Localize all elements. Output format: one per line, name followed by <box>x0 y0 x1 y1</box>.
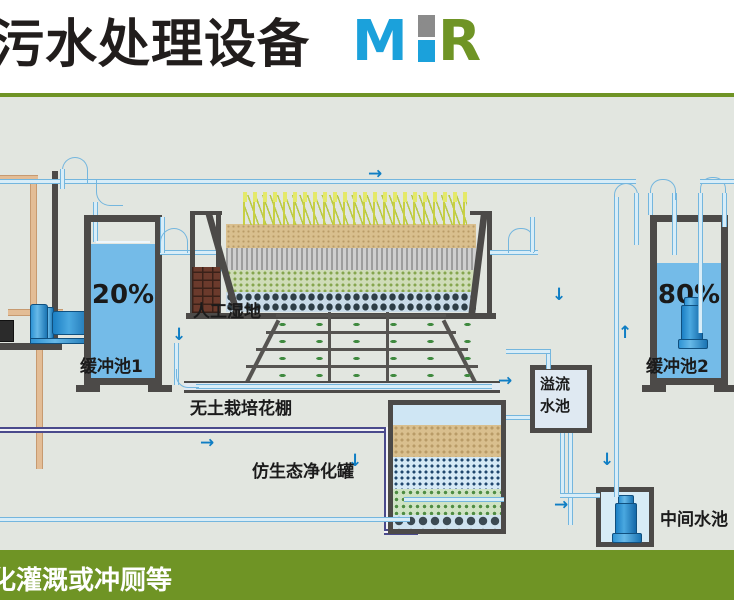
bend-buffer2-a <box>650 179 676 200</box>
arrow-to-intermediate: → <box>554 497 568 514</box>
wetland-right-outer-wall <box>487 211 492 317</box>
overflow-pool-label-line1: 溢流 <box>540 373 570 394</box>
arrow-greenhouse-right: → <box>498 373 512 390</box>
arrow-mid-right: → <box>200 435 214 452</box>
arrow-return-up: ↑ <box>618 325 632 342</box>
logo-letter-m: M <box>352 14 408 70</box>
header-bar: 污水处理设备 M R <box>0 0 734 95</box>
buffer2-top-feed <box>700 179 734 184</box>
overflow-to-intermediate <box>560 433 565 495</box>
greenhouse-plants <box>250 312 476 382</box>
intermediate-pool-label: 中间水池 <box>660 505 728 530</box>
wetland-layer-green-media <box>226 270 476 292</box>
wetland-layer-cobble <box>226 292 476 312</box>
buffer2-riser-c <box>698 193 703 333</box>
pump-b2-base <box>678 339 708 349</box>
bend-into-buffer1 <box>96 179 123 206</box>
greenhouse-inner-pipe <box>196 384 492 389</box>
wetland-right-top <box>470 211 492 215</box>
buffer-tank-1-foot-right <box>148 385 172 392</box>
bend-greenhouse-feed <box>176 369 199 388</box>
buffer2-riser-a <box>672 193 677 255</box>
lower-left-return-pipe <box>0 517 410 522</box>
pump-control-box <box>0 320 14 342</box>
buffer2-riser-b <box>648 193 653 215</box>
arrow-intermediate-down: ↓ <box>600 452 614 469</box>
buffer2-riser-d <box>722 193 727 227</box>
wastewater-treatment-diagram: 污水处理设备 M R → <box>0 0 734 600</box>
wetland-layer-sand <box>226 224 476 248</box>
buffer-tank-2-label: 缓冲池2 <box>646 352 709 377</box>
pumphouse-floor <box>0 343 62 350</box>
purifier-layer-water <box>393 405 501 425</box>
overflow-pool-top-feed <box>506 349 550 354</box>
purifier-layer-blue-media <box>393 457 501 489</box>
right-return-pipe-1 <box>614 197 619 497</box>
purifier-bottom-return <box>404 497 504 502</box>
pump-intermediate-body <box>615 503 637 535</box>
recycle-pipe-horizontal <box>0 427 390 433</box>
greenhouse-label: 无土栽培花棚 <box>190 394 292 419</box>
purifier-layer-green-media <box>393 489 501 515</box>
buffer-tank-1-percent: 20% <box>91 280 155 310</box>
water-drop-gray-icon <box>418 15 435 37</box>
arrow-top-main: → <box>368 166 382 183</box>
arrow-right-down: ↓ <box>552 287 566 304</box>
buffer-tank-1-foot-left <box>76 385 100 392</box>
overflow-pool-label-line2: 水池 <box>540 395 570 416</box>
page-title: 污水处理设备 <box>0 2 310 77</box>
logo-letter-r: R <box>438 14 481 70</box>
mbr-logo: M R <box>352 12 482 70</box>
curl-left-of-buffer1-leg <box>60 169 65 189</box>
wetland-bed <box>226 224 476 314</box>
overflow-to-intermediate-leg <box>560 493 600 498</box>
arrow-wetland-down: ↓ <box>172 327 186 344</box>
buffer-tank-1-label: 缓冲池1 <box>80 352 143 377</box>
curl-left-of-buffer1 <box>62 157 88 184</box>
bio-purification-tank-label: 仿生态净化罐 <box>252 457 354 482</box>
pump-base-plate <box>30 338 92 344</box>
buffer1-level-line <box>96 241 150 243</box>
footer-text: 化灌溉或冲厕等 <box>0 560 172 597</box>
wetland-layer-gravel <box>226 248 476 270</box>
wetland-plant-row-caps <box>243 192 467 202</box>
pump-volute <box>30 304 48 342</box>
buffer-tank-2-foot-left <box>642 385 666 392</box>
buffer-tank-2-foot-right <box>714 385 734 392</box>
right-return-pipe-2 <box>634 193 639 245</box>
water-drop-blue-icon <box>418 40 435 62</box>
pump-intermediate-base <box>612 533 642 543</box>
bio-purification-tank <box>388 400 506 534</box>
diagram-stage: → 20% 缓冲池1 <box>0 97 734 550</box>
wetland-outlet-riser <box>530 217 535 252</box>
greenhouse <box>236 312 488 387</box>
purifier-layer-sand <box>393 425 501 457</box>
bend-buffer1-out <box>160 228 188 253</box>
